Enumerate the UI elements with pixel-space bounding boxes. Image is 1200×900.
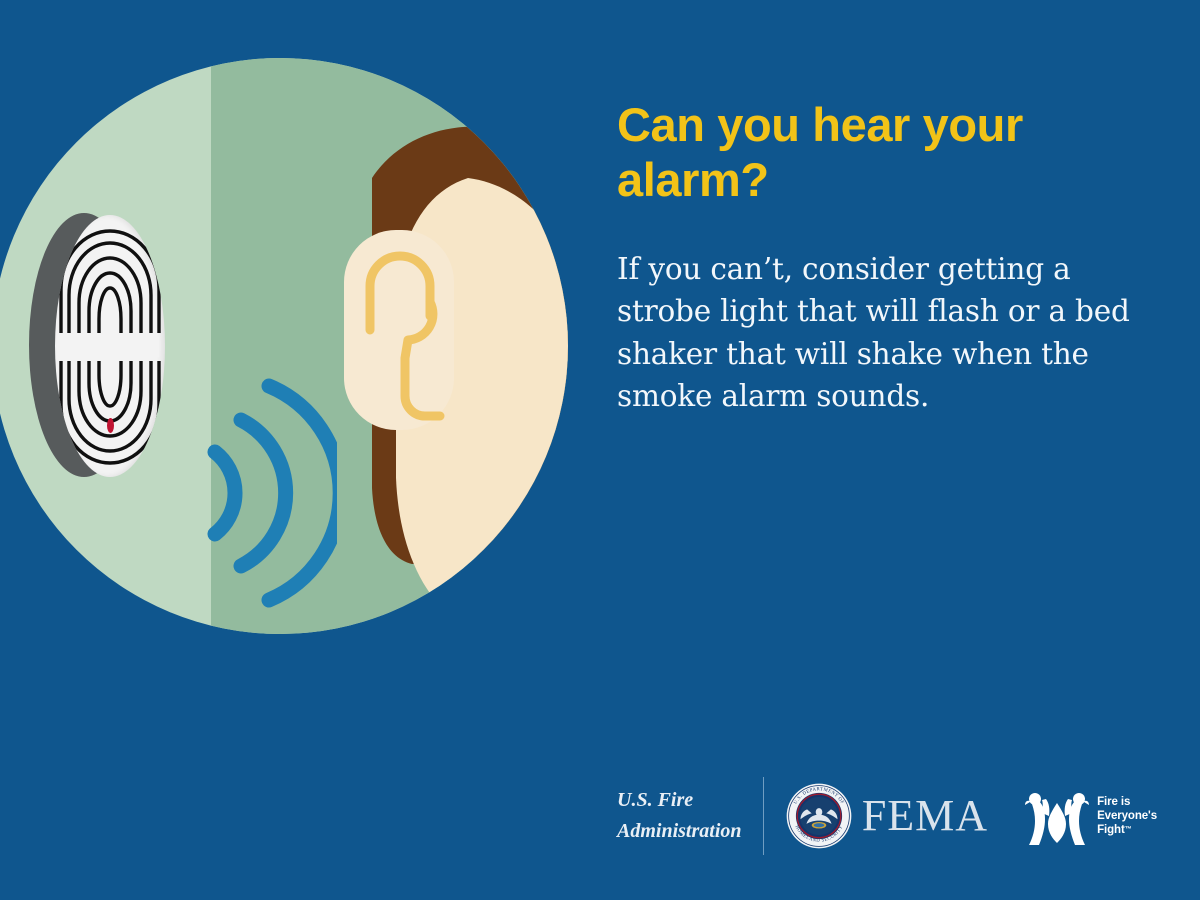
campaign-line-3: Fight xyxy=(1097,824,1125,836)
footer-logo-bar: U.S. Fire Administration xyxy=(617,766,1157,866)
three-figures-icon xyxy=(1022,785,1092,847)
dhs-seal-icon[interactable]: U.S. DEPARTMENT OF HOMELAND SECURITY xyxy=(786,783,852,849)
usfa-logo[interactable]: U.S. Fire Administration xyxy=(617,785,748,847)
usfa-line-2: Administration xyxy=(617,816,748,847)
fema-wordmark[interactable]: FEMA xyxy=(862,794,988,838)
campaign-trademark: ™ xyxy=(1125,826,1132,833)
poster-canvas: Can you hear your alarm? If you can’t, c… xyxy=(0,0,1200,900)
fire-is-everyones-fight-logo[interactable]: Fire is Everyone's Fight™ xyxy=(1022,785,1157,847)
campaign-line-2: Everyone's xyxy=(1097,809,1157,823)
usfa-line-1: U.S. Fire xyxy=(617,785,748,816)
smoke-alarm-center-band xyxy=(61,337,159,357)
footer-divider xyxy=(763,777,764,855)
smoke-alarm-led-indicator xyxy=(107,418,114,433)
smoke-alarm-face xyxy=(55,215,165,477)
person-head-illustration xyxy=(292,58,568,634)
body-paragraph: If you can’t, consider getting a strobe … xyxy=(617,248,1149,418)
campaign-line-1: Fire is xyxy=(1097,795,1157,809)
smoke-alarm-illustration xyxy=(29,213,169,483)
campaign-tagline: Fire is Everyone's Fight™ xyxy=(1097,795,1157,837)
illustration-circle xyxy=(0,58,568,634)
page-title: Can you hear your alarm? xyxy=(617,98,1137,207)
